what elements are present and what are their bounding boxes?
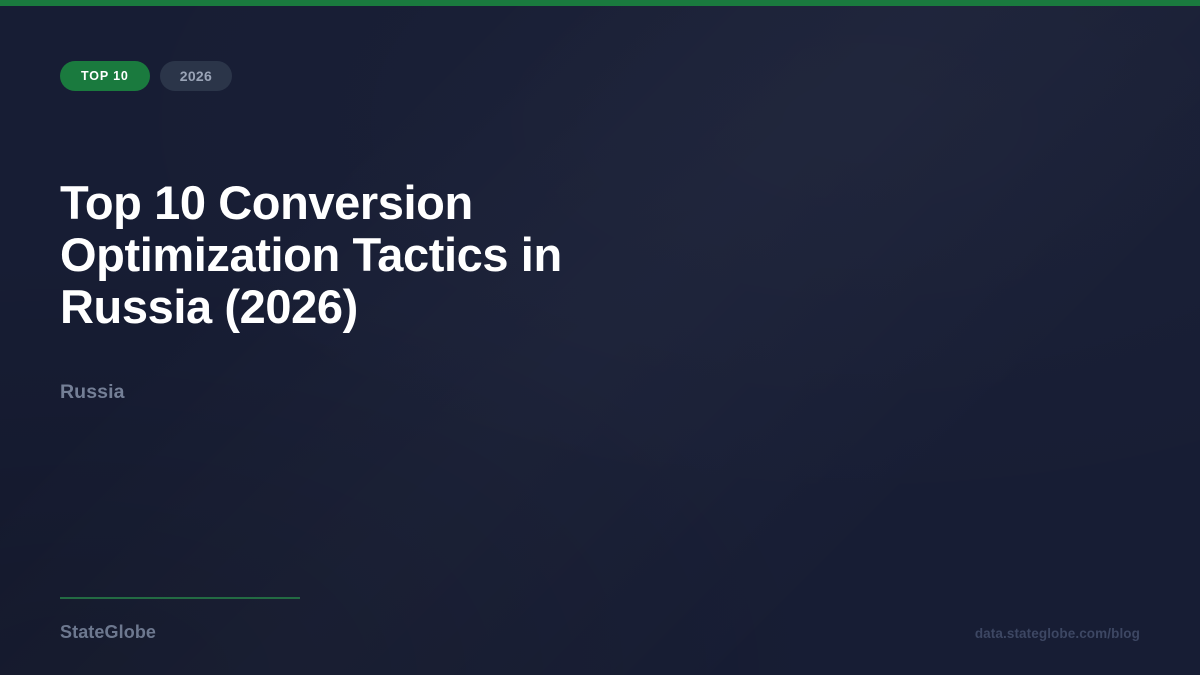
- background-vignette: [0, 0, 1200, 675]
- page-title: Top 10 Conversion Optimization Tactics i…: [60, 177, 620, 333]
- blog-title-card: TOP 10 2026 Top 10 Conversion Optimizati…: [0, 0, 1200, 675]
- year-badge[interactable]: 2026: [160, 61, 232, 91]
- badge-row: TOP 10 2026: [60, 61, 232, 91]
- top-accent-bar: [0, 0, 1200, 6]
- rank-badge[interactable]: TOP 10: [60, 61, 150, 91]
- footer-url[interactable]: data.stateglobe.com/blog: [975, 626, 1140, 641]
- subtitle-region: Russia: [60, 381, 125, 404]
- background-diagonal-gradient: [0, 0, 1200, 675]
- footer-divider: [60, 597, 300, 599]
- footer-brand: StateGlobe: [60, 622, 156, 643]
